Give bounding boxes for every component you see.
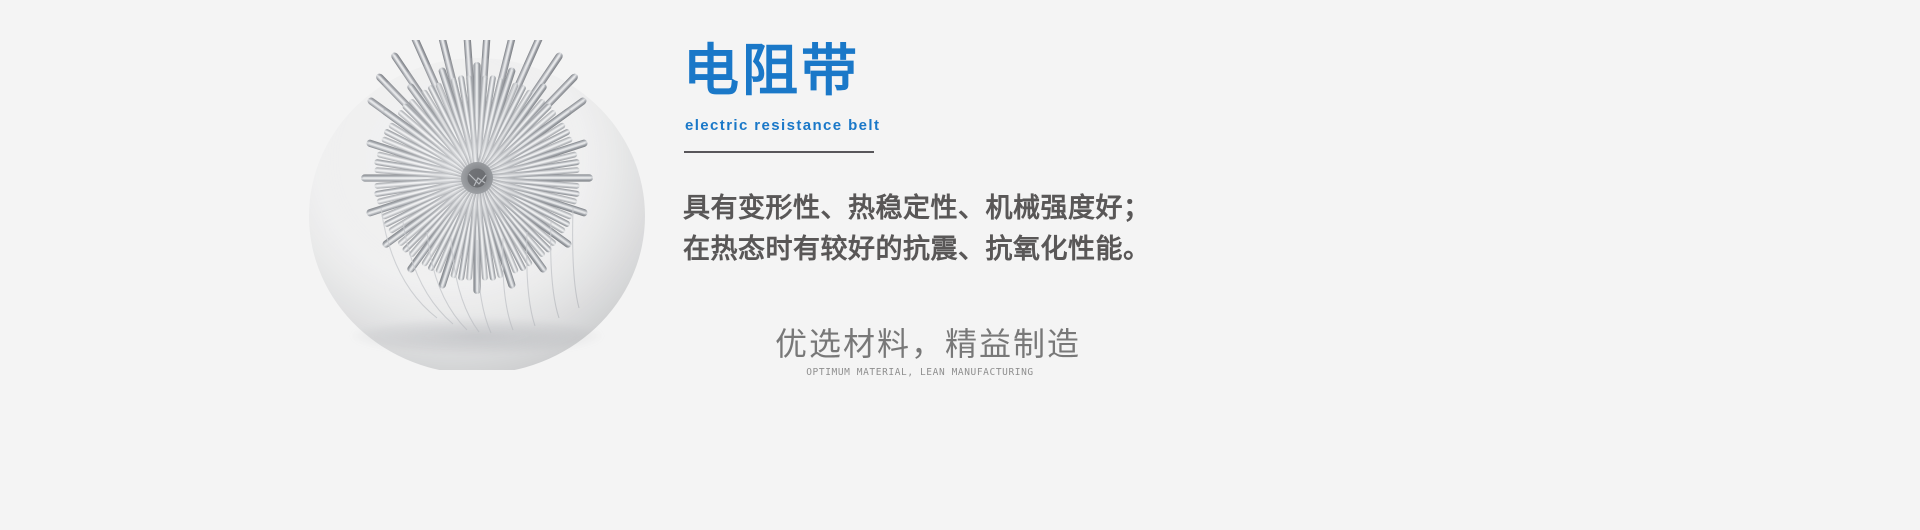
product-banner: 电阻带 electric resistance belt 具有变形性、热稳定性、… [0,0,1920,530]
slogan-chinese: 优选材料，精益制造 [775,322,1065,366]
product-burst-stage [300,40,655,370]
feature-description: 具有变形性、热稳定性、机械强度好； 在热态时有较好的抗震、抗氧化性能。 [683,188,1303,270]
slogan-watermark: 优选材料，精益制造 OPTIMUM MATERIAL, LEAN MANUFAC… [775,322,1065,379]
product-image [300,40,655,370]
description-line-1: 具有变形性、热稳定性、机械强度好； [683,188,1303,229]
description-line-2: 在热态时有较好的抗震、抗氧化性能。 [683,229,1303,270]
page-title: 电阻带 [683,43,860,99]
title-divider [684,151,874,153]
slogan-english: OPTIMUM MATERIAL, LEAN MANUFACTURING [775,367,1065,379]
banner-content: 电阻带 electric resistance belt 具有变形性、热稳定性、… [683,0,1783,530]
resistance-belt-burst-icon [300,40,655,370]
page-subtitle: electric resistance belt [685,118,880,133]
